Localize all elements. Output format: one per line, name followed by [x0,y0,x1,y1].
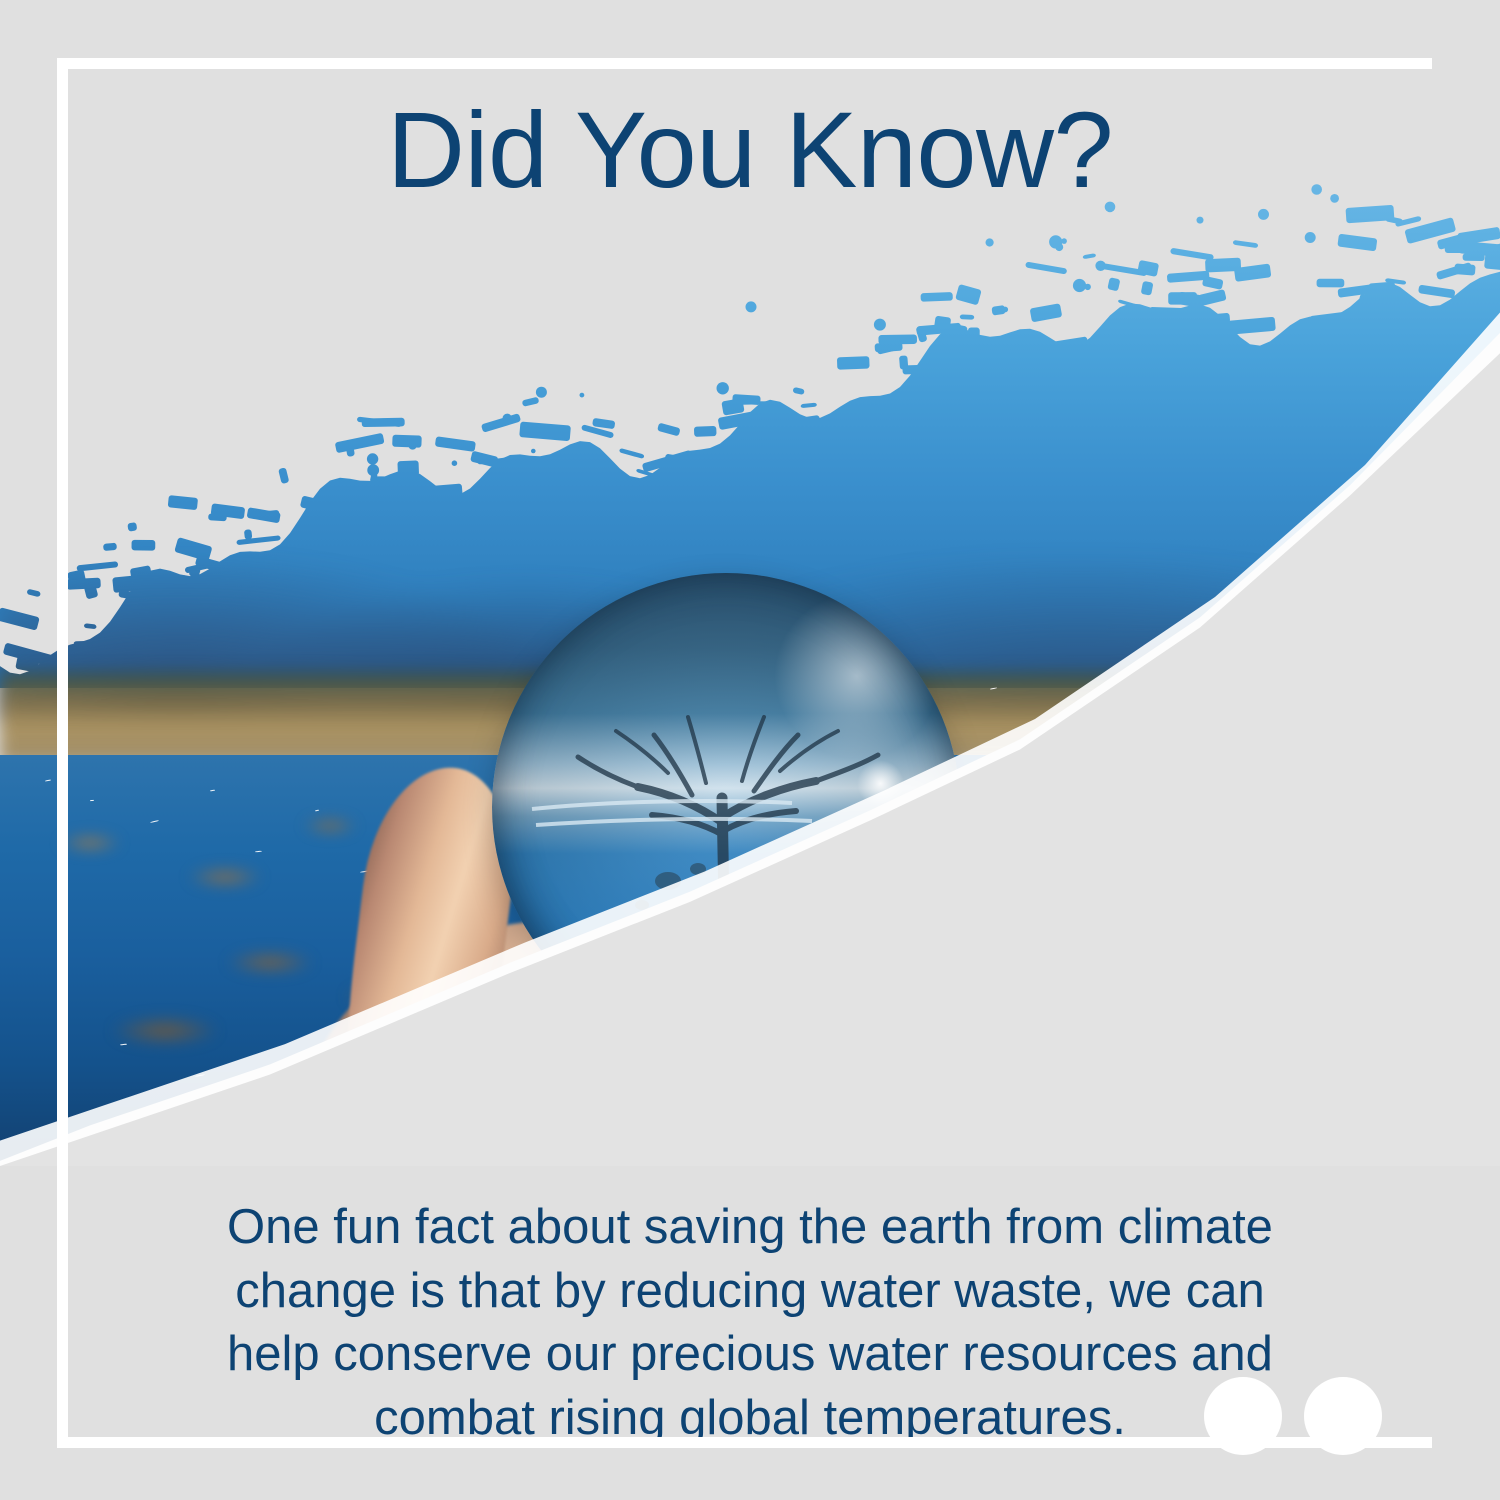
frame-left-border [57,58,68,1448]
water-glint [90,800,94,802]
water-glint [315,810,319,812]
water-glint [45,779,51,781]
hero-photo [0,150,1500,1166]
water-glint [990,688,997,690]
body-line: help conserve our precious water resourc… [150,1323,1350,1387]
page-title: Did You Know? [0,96,1500,204]
water-glint [255,851,262,853]
poster-canvas: Did You Know? One fun fact about saving … [0,0,1500,1500]
frame-top-border [57,58,1432,69]
body-paragraph: One fun fact about saving the earth from… [150,1196,1350,1451]
body-line: change is that by reducing water waste, … [150,1260,1350,1324]
water-glint [150,820,159,823]
dot-indicator [1204,1377,1282,1455]
dot-indicator [1304,1377,1382,1455]
body-line: One fun fact about saving the earth from… [150,1196,1350,1260]
water-glint [210,790,215,792]
water-glint [120,1044,127,1046]
decorative-dots [1204,1377,1382,1455]
